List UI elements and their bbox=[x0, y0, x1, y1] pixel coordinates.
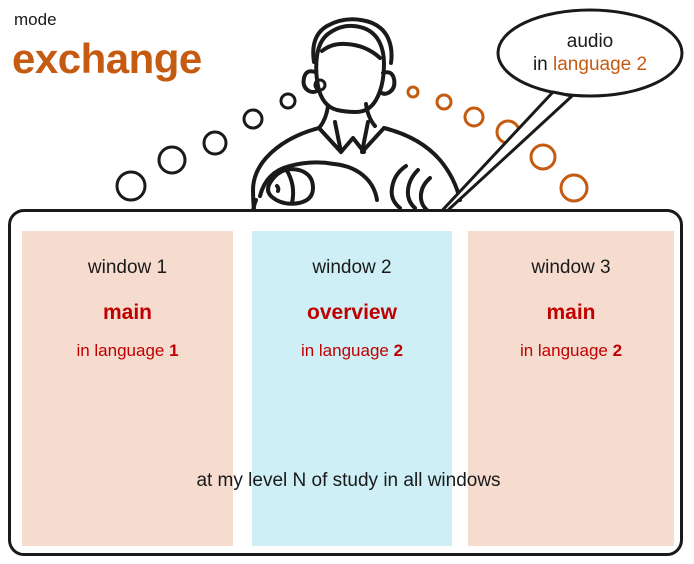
window-3-language-number: 2 bbox=[613, 341, 622, 360]
window-2-kind: overview bbox=[252, 302, 452, 323]
window-1-language-prefix: in language bbox=[76, 341, 169, 360]
panel-footnote: at my level N of study in all windows bbox=[11, 470, 686, 492]
window-column-2[interactable]: window 2 overview in language 2 bbox=[252, 231, 452, 546]
window-2-language-prefix: in language bbox=[301, 341, 394, 360]
window-2-title: window 2 bbox=[252, 258, 452, 277]
bubble-line-2-prefix: in bbox=[533, 54, 553, 75]
window-column-1[interactable]: window 1 main in language 1 bbox=[22, 231, 233, 546]
window-3-language: in language 2 bbox=[468, 342, 674, 359]
window-2-text: window 2 overview in language 2 bbox=[252, 231, 452, 359]
window-3-text: window 3 main in language 2 bbox=[468, 231, 674, 359]
window-3-title: window 3 bbox=[468, 258, 674, 277]
window-1-language-number: 1 bbox=[169, 341, 178, 360]
window-1-language: in language 1 bbox=[22, 342, 233, 359]
speech-bubble-text: audio in language 2 bbox=[497, 10, 683, 96]
window-3-language-prefix: in language bbox=[520, 341, 613, 360]
windows-panel: window 1 main in language 1 window 2 ove… bbox=[8, 209, 683, 556]
bubble-line-2-highlight: language 2 bbox=[553, 54, 647, 75]
window-3-kind: main bbox=[468, 302, 674, 323]
window-1-text: window 1 main in language 1 bbox=[22, 231, 233, 359]
window-column-3[interactable]: window 3 main in language 2 bbox=[468, 231, 674, 546]
windows-columns: window 1 main in language 1 window 2 ove… bbox=[11, 212, 686, 559]
illustration-area: audio in language 2 bbox=[0, 0, 694, 230]
window-2-language-number: 2 bbox=[394, 341, 403, 360]
window-1-title: window 1 bbox=[22, 258, 233, 277]
bubble-line-1: audio bbox=[567, 30, 614, 53]
window-2-language: in language 2 bbox=[252, 342, 452, 359]
window-1-kind: main bbox=[22, 302, 233, 323]
